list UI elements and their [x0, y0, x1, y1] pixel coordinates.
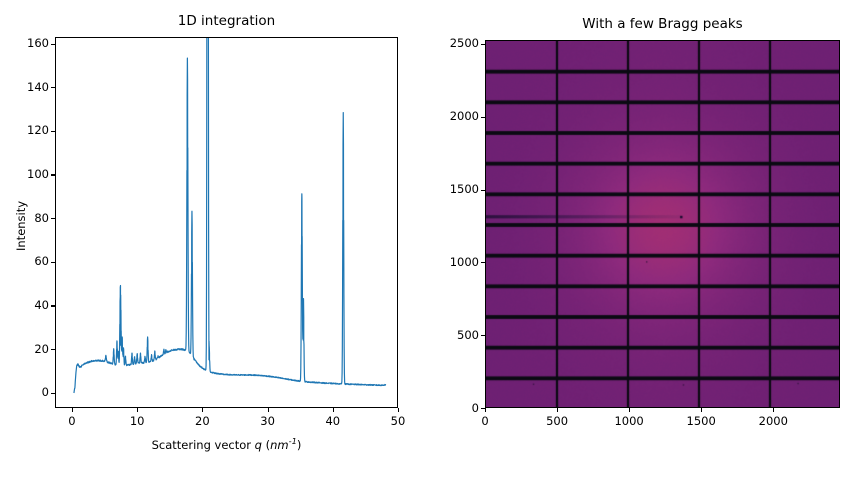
x-axis-label-unit-close: )	[297, 438, 302, 452]
line-plot	[56, 38, 398, 408]
x-axis-label-unit: nm	[270, 438, 289, 452]
y-tick-label: 60	[7, 254, 49, 268]
y-tick-mark	[51, 349, 55, 350]
intensity-trace	[74, 38, 386, 393]
x-axis-label-prefix: Scattering vector	[152, 438, 255, 452]
y-tick-label: 120	[7, 123, 49, 137]
x-tick-mark	[72, 408, 73, 412]
x-tick-label: 0	[48, 414, 96, 428]
y-tick-label: 20	[7, 342, 49, 356]
y-axis-label: Intensity	[14, 200, 28, 250]
detector-x-tick-label: 500	[527, 414, 587, 428]
detector-title: With a few Bragg peaks	[485, 16, 840, 32]
y-tick-mark	[51, 44, 55, 45]
detector-x-tick-mark	[701, 408, 702, 412]
y-tick-label: 0	[7, 385, 49, 399]
y-tick-label: 100	[7, 167, 49, 181]
x-tick-label: 10	[113, 414, 161, 428]
y-tick-mark	[51, 305, 55, 306]
axes-1d-integration	[55, 37, 398, 408]
x-axis-label: Scattering vector q (nm-1)	[55, 436, 398, 452]
x-axis-label-unit-open: (	[262, 438, 270, 452]
x-tick-label: 30	[244, 414, 292, 428]
matplotlib-figure: 1D integration 0102030405002040608010012…	[0, 0, 850, 478]
detector-x-tick-label: 0	[455, 414, 515, 428]
y-tick-label: 140	[7, 80, 49, 94]
detector-x-tick-label: 1000	[599, 414, 659, 428]
detector-y-tick-mark	[481, 117, 485, 118]
detector-y-tick-mark	[481, 335, 485, 336]
detector-y-tick-mark	[481, 190, 485, 191]
x-tick-mark	[137, 408, 138, 412]
y-tick-mark	[51, 393, 55, 394]
y-tick-mark	[51, 87, 55, 88]
detector-x-tick-label: 2000	[743, 414, 803, 428]
y-tick-label: 160	[7, 36, 49, 50]
x-tick-label: 40	[309, 414, 357, 428]
x-tick-label: 50	[374, 414, 422, 428]
axes-detector-image	[485, 40, 840, 408]
detector-y-tick-label: 2500	[435, 36, 479, 50]
x-tick-label: 20	[178, 414, 226, 428]
detector-y-tick-label: 500	[435, 328, 479, 342]
detector-y-tick-label: 0	[435, 401, 479, 415]
detector-x-tick-mark	[773, 408, 774, 412]
detector-y-tick-mark	[481, 408, 485, 409]
y-tick-mark	[51, 131, 55, 132]
detector-heatmap	[486, 41, 840, 408]
page-title: 1D integration	[55, 13, 398, 29]
detector-y-tick-label: 1000	[435, 255, 479, 269]
detector-y-tick-label: 2000	[435, 109, 479, 123]
detector-x-tick-mark	[629, 408, 630, 412]
detector-x-tick-label: 1500	[671, 414, 731, 428]
detector-x-tick-mark	[557, 408, 558, 412]
x-tick-mark	[202, 408, 203, 412]
detector-x-tick-mark	[485, 408, 486, 412]
detector-y-tick-mark	[481, 262, 485, 263]
x-tick-mark	[333, 408, 334, 412]
x-axis-label-variable: q	[255, 438, 262, 452]
x-tick-mark	[398, 408, 399, 412]
detector-y-tick-mark	[481, 44, 485, 45]
y-tick-mark	[51, 218, 55, 219]
detector-y-tick-label: 1500	[435, 182, 479, 196]
y-tick-mark	[51, 262, 55, 263]
x-axis-label-exponent: -1	[289, 436, 297, 446]
y-tick-mark	[51, 174, 55, 175]
y-tick-label: 40	[7, 298, 49, 312]
x-tick-mark	[268, 408, 269, 412]
